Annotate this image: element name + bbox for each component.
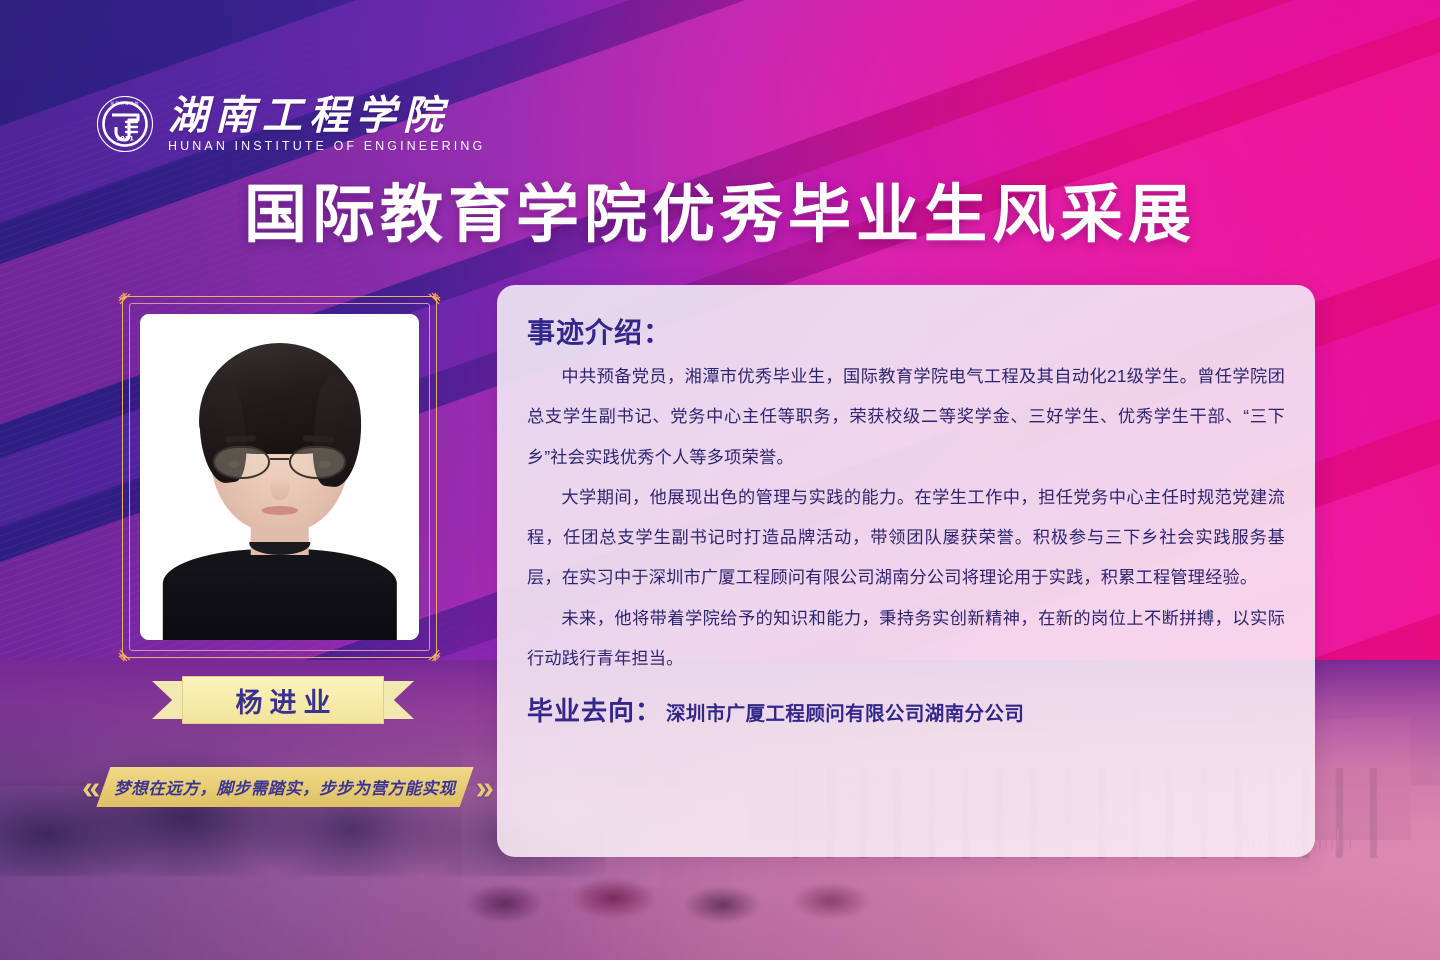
graduate-name: 杨进业 [229,681,338,720]
chevron-right-icon: » [476,771,488,804]
name-ribbon-body: 杨进业 [182,676,384,724]
frame-corner-ornament-icon [117,641,139,663]
svg-text:1951: 1951 [116,134,134,142]
motto-ribbon: « 梦想在远方，脚步需踏实，步步为营方能实现 » [82,765,488,809]
motto-text: 梦想在远方，脚步需踏实，步步为营方能实现 [114,775,456,799]
destination-value: 深圳市广厦工程顾问有限公司湖南分公司 [666,697,1024,726]
portrait-illustration [140,314,419,640]
university-emblem-icon: 1951 湖南工程学院 [96,95,154,153]
page-title: 国际教育学院优秀毕业生风采展 [0,182,1440,249]
frame-corner-ornament-icon [420,641,442,663]
bio-paragraph: 大学期间，他展现出色的管理与实践的能力。在学生工作中，担任党务中心主任时规范党建… [527,477,1285,598]
motto-ribbon-body: 梦想在远方，脚步需踏实，步步为营方能实现 [96,767,473,807]
frame-corner-ornament-icon [117,291,139,313]
frame-corner-ornament-icon [420,291,442,313]
brand-lockup: 1951 湖南工程学院 湖南工程学院 HUNAN INSTITUTE OF EN… [96,94,485,153]
name-ribbon: 杨进业 [152,676,414,724]
graduate-photo [140,314,419,640]
portrait-block [122,296,437,658]
svg-text:湖南工程学院: 湖南工程学院 [110,100,139,105]
chevron-left-icon: « [82,771,94,804]
university-name-cn: 湖南工程学院 [168,96,485,136]
destination-label: 毕业去向： [527,691,662,728]
poster-canvas: 1951 湖南工程学院 湖南工程学院 HUNAN INSTITUTE OF EN… [0,0,1440,960]
bio-paragraph: 中共预备党员，湘潭市优秀毕业生，国际教育学院电气工程及其自动化21级学生。曾任学… [527,356,1285,477]
destination-row: 毕业去向： 深圳市广厦工程顾问有限公司湖南分公司 [527,691,1285,728]
content-panel: 事迹介绍： 中共预备党员，湘潭市优秀毕业生，国际教育学院电气工程及其自动化21级… [497,285,1315,857]
bio-paragraph: 未来，他将带着学院给予的知识和能力，秉持务实创新精神，在新的岗位上不断拼搏，以实… [527,598,1285,679]
university-name-en: HUNAN INSTITUTE OF ENGINEERING [168,139,485,153]
section-heading: 事迹介绍： [527,311,1285,351]
